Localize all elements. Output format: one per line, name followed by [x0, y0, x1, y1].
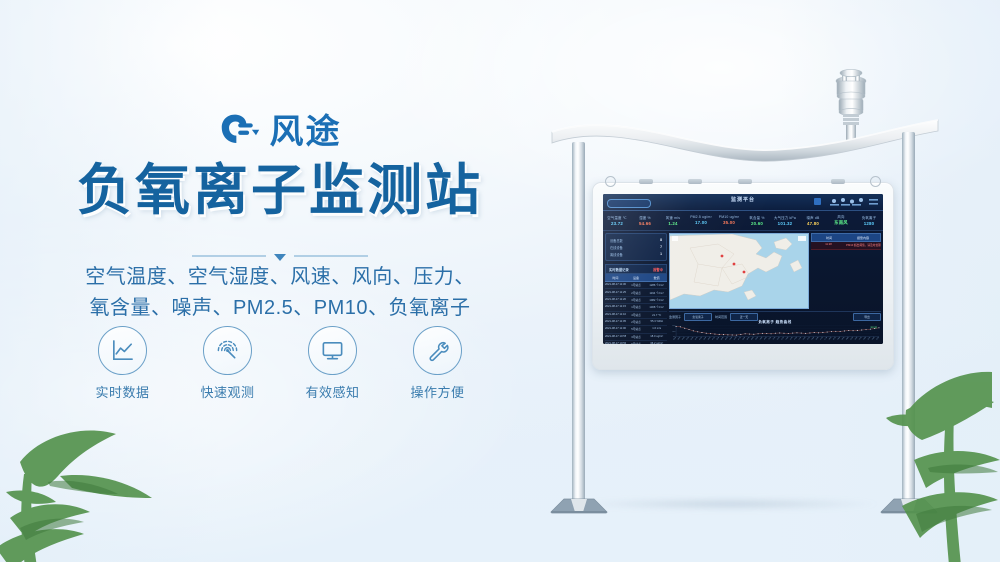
svg-text:19:00: 19:00 [837, 337, 841, 341]
svg-text:22:30: 22:30 [867, 337, 871, 341]
metric-item: 大气压力 kPa 101.32 [771, 210, 799, 230]
svg-text:1700: 1700 [672, 325, 676, 327]
table-cell: 1286 个/cm³ [646, 282, 667, 288]
table-row[interactable]: 2021-08-17 10:50:026号站点36.2 ug/m³ [605, 341, 667, 344]
table-cell: 1.6 m/s [646, 326, 667, 332]
feature-label: 操作方便 [410, 382, 464, 401]
metric-item: PM10 ug/m³ 35.00 [715, 210, 743, 230]
svg-text:11:00: 11:00 [768, 337, 772, 341]
stat-row: 在线设备 7 [610, 245, 662, 250]
svg-text:实时值: 实时值 [870, 325, 877, 329]
svg-text:19:30: 19:30 [841, 337, 845, 341]
table-cell: 55.3 %RH [646, 319, 667, 325]
mount-hook-left [605, 176, 616, 187]
svg-text:06:00: 06:00 [725, 337, 729, 341]
stat-value: 8 [660, 238, 662, 242]
header-widget-icons [812, 196, 880, 208]
wrench-icon [425, 338, 450, 363]
column-header: 数值 [646, 274, 667, 281]
radar-signal-icon [215, 338, 240, 363]
table-cell: 2021-08-17 10:50:02 [605, 341, 626, 344]
brand-name: 风途 [270, 115, 342, 149]
table-row[interactable]: 2021-08-17 11:25:022号站点1194 个/cm³ [605, 289, 667, 296]
metric-value: 17.00 [695, 220, 707, 225]
lcd-screen[interactable]: 监测平台 空气温度 ℃ 23.72 [603, 194, 883, 344]
svg-text:23:30: 23:30 [876, 337, 880, 341]
metric-item: PM2.5 ug/m³ 17.00 [687, 210, 715, 230]
column-header: 设备 [626, 274, 647, 281]
metric-name: 噪声 dB [807, 215, 820, 220]
table-cell: 2021-08-17 11:20:02 [605, 297, 626, 303]
device-stats: 设备总数 8 在线设备 7 离线设备 1 [605, 233, 667, 261]
svg-text:14:00: 14:00 [794, 337, 798, 341]
svg-text:01:00: 01:00 [682, 337, 686, 341]
trend-chart: 00:0000:3001:0001:3002:0002:3003:0003:30… [669, 324, 881, 342]
svg-text:04:30: 04:30 [712, 337, 716, 341]
svg-text:15:30: 15:30 [807, 337, 811, 341]
table-cell: 2021-08-17 11:15:02 [605, 304, 626, 310]
sensor-list-line-2: 氧含量、噪声、PM2.5、PM10、负氧离子 [0, 293, 560, 324]
svg-text:18:30: 18:30 [833, 337, 837, 341]
metric-item: 负氧离子 1280 [855, 210, 883, 230]
decorative-leaves-right [866, 356, 1000, 562]
svg-text:10:30: 10:30 [764, 337, 768, 341]
brand-logo: 风途 [0, 112, 560, 152]
alert-time: 11:28 [811, 242, 846, 249]
table-cell: 1308 个/cm³ [646, 304, 667, 310]
metric-item: 噪声 dB 47.80 [799, 210, 827, 230]
page-title: 负氧离子监测站 [0, 160, 560, 222]
wind-cloud-logo-icon [219, 112, 261, 152]
column-header: 时间 [605, 274, 626, 281]
metric-item: 风向 东南风 [827, 210, 855, 230]
decorative-leaves-left [0, 342, 196, 562]
table-cell: 1194 个/cm³ [646, 289, 667, 295]
left-panel: 设备总数 8 在线设备 7 离线设备 1 [605, 233, 667, 341]
feature-item-effective-sensing[interactable]: 有效感知 [299, 326, 367, 401]
alert-row: 11:28 PM10 超出阈值，请及时处理 [811, 242, 881, 250]
svg-text:21:30: 21:30 [859, 337, 863, 341]
svg-text:05:30: 05:30 [721, 337, 725, 341]
alert-panel: 时间 报警内容 11:28 PM10 超出阈值，请及时处理 [811, 233, 881, 307]
trend-chart-svg: 00:0000:3001:0001:3002:0002:3003:0003:30… [669, 324, 881, 342]
table-row[interactable]: 2021-08-17 11:05:022号站点55.3 %RH [605, 319, 667, 326]
metric-name: 空气温度 ℃ [607, 215, 627, 220]
svg-text:01:30: 01:30 [686, 337, 690, 341]
monitor-icon [320, 338, 345, 363]
svg-text:15:00: 15:00 [803, 337, 807, 341]
feature-label: 快速观测 [200, 382, 254, 401]
table-cell: 2021-08-17 11:05:02 [605, 319, 626, 325]
metric-value: 1280 [864, 221, 875, 226]
alert-column-headers: 时间 报警内容 [811, 233, 881, 242]
metric-strip: 空气温度 ℃ 23.72 湿度 % 54.66 风速 m/s 1.24 PM [603, 210, 883, 231]
svg-text:1250: 1250 [672, 331, 676, 333]
metric-value: 35.00 [723, 220, 735, 225]
mount-hook-right [870, 176, 881, 187]
svg-text:07:00: 07:00 [733, 337, 737, 341]
feature-item-easy-operation[interactable]: 操作方便 [404, 326, 472, 401]
svg-text:800: 800 [673, 336, 676, 338]
svg-text:20:30: 20:30 [850, 337, 854, 341]
metric-value: 1.24 [668, 221, 677, 226]
station-map[interactable] [669, 233, 809, 309]
table-cell: 2号站点 [626, 319, 647, 325]
mount-tab [639, 179, 653, 184]
svg-text:13:30: 13:30 [790, 337, 794, 341]
table-cell: 36.2 ug/m³ [646, 341, 667, 344]
svg-text:11:30: 11:30 [772, 337, 776, 341]
table-row[interactable]: 2021-08-17 10:55:023号站点18.0 ug/m³ [605, 334, 667, 341]
svg-text:21:00: 21:00 [854, 337, 858, 341]
chart-filter-label-factor: 监测因子 [669, 315, 681, 319]
metric-name: 氧含量 % [749, 215, 764, 220]
table-cell: 1号站点 [626, 282, 647, 288]
table-cell: 2021-08-17 11:00:02 [605, 326, 626, 332]
svg-text:23:00: 23:00 [872, 337, 876, 341]
svg-text:12:00: 12:00 [777, 337, 781, 341]
feature-item-fast-observation[interactable]: 快速观测 [194, 326, 262, 401]
feature-label: 有效感知 [305, 382, 359, 401]
svg-text:09:30: 09:30 [755, 337, 759, 341]
svg-text:08:30: 08:30 [746, 337, 750, 341]
svg-text:17:00: 17:00 [820, 337, 824, 341]
column-header: 报警内容 [846, 234, 880, 241]
svg-text:06:30: 06:30 [729, 337, 733, 341]
stat-row: 设备总数 8 [610, 238, 662, 243]
table-column-headers: 时间 设备 数值 [605, 274, 667, 282]
stat-key: 设备总数 [610, 238, 623, 243]
divider-ornament [190, 252, 370, 262]
table-row[interactable]: 2021-08-17 11:20:023号站点1082 个/cm³ [605, 297, 667, 304]
metric-value: 23.72 [611, 221, 623, 226]
table-cell: 1082 个/cm³ [646, 297, 667, 303]
svg-text:14:30: 14:30 [798, 337, 802, 341]
svg-text:12:30: 12:30 [781, 337, 785, 341]
svg-text:04:00: 04:00 [708, 337, 712, 341]
feature-icon-wrap [203, 326, 252, 375]
metric-name: 负氧离子 [862, 215, 876, 220]
svg-text:03:30: 03:30 [703, 337, 707, 341]
table-cell: 6号站点 [626, 341, 647, 344]
svg-text:16:00: 16:00 [811, 337, 815, 341]
table-title: 实时数据记录 [609, 267, 629, 272]
data-table-header: 实时数据记录 报警中 [605, 264, 667, 274]
sensor-list: 空气温度、空气湿度、风速、风向、压力、 氧含量、噪声、PM2.5、PM10、负氧… [0, 262, 560, 324]
stat-key: 在线设备 [610, 245, 623, 250]
mount-tab [738, 179, 752, 184]
table-cell: 2号站点 [626, 289, 647, 295]
table-row[interactable]: 2021-08-17 11:30:021号站点1286 个/cm³ [605, 282, 667, 289]
svg-text:03:00: 03:00 [699, 337, 703, 341]
table-cell: 18.0 ug/m³ [646, 334, 667, 340]
chart-filter-label-range: 时间范围 [715, 315, 727, 319]
metric-item: 氧含量 % 20.60 [743, 210, 771, 230]
table-row[interactable]: 2021-08-17 11:15:021号站点1308 个/cm³ [605, 304, 667, 311]
stat-row: 离线设备 1 [610, 252, 662, 257]
svg-text:16:30: 16:30 [815, 337, 819, 341]
feature-icon-wrap [308, 326, 357, 375]
column-header: 时间 [812, 234, 846, 241]
wave-canopy [550, 114, 940, 170]
status-badge: 报警中 [653, 267, 663, 272]
svg-text:09:00: 09:00 [751, 337, 755, 341]
table-cell: 2021-08-17 11:30:02 [605, 282, 626, 288]
metric-name: 大气压力 kPa [774, 215, 796, 220]
stat-value: 7 [660, 245, 662, 249]
support-post-left [572, 142, 585, 504]
table-cell: 3号站点 [626, 334, 647, 340]
table-cell: 3号站点 [626, 297, 647, 303]
svg-text:00:30: 00:30 [677, 337, 681, 341]
table-cell: 21.7 ℃ [646, 312, 667, 318]
svg-text:05:00: 05:00 [716, 337, 720, 341]
metric-item: 湿度 % 54.66 [631, 210, 659, 230]
metric-name: 湿度 % [639, 215, 651, 220]
metric-value: 101.32 [778, 221, 793, 226]
table-row[interactable]: 2021-08-17 11:00:025号站点1.6 m/s [605, 326, 667, 333]
svg-text:02:30: 02:30 [695, 337, 699, 341]
metric-name: 风向 [837, 214, 844, 219]
feature-icon-wrap [413, 326, 462, 375]
sensor-list-line-1: 空气温度、空气湿度、风速、风向、压力、 [0, 262, 560, 293]
promo-banner: 风途 负氧离子监测站 空气温度、空气湿度、风速、风向、压力、 氧含量、噪声、PM… [0, 0, 1000, 562]
metric-name: 风速 m/s [666, 215, 680, 220]
base-plate-left [549, 496, 609, 514]
data-table-body: 2021-08-17 11:30:021号站点1286 个/cm³2021-08… [605, 282, 667, 344]
metric-value: 东南风 [834, 220, 848, 226]
svg-text:17:30: 17:30 [824, 337, 828, 341]
dashboard: 监测平台 空气温度 ℃ 23.72 [603, 194, 883, 344]
metric-value: 47.80 [807, 221, 819, 226]
svg-text:18:00: 18:00 [828, 337, 832, 341]
table-row[interactable]: 2021-08-17 11:10:024号站点21.7 ℃ [605, 312, 667, 319]
metric-item: 空气温度 ℃ 23.72 [603, 210, 631, 230]
svg-text:02:00: 02:00 [690, 337, 694, 341]
table-cell: 2021-08-17 11:25:02 [605, 289, 626, 295]
display-enclosure: 监测平台 空气温度 ℃ 23.72 [592, 182, 894, 370]
map-graphic [670, 234, 808, 308]
alert-text: PM10 超出阈值，请及时处理 [846, 242, 881, 249]
table-cell: 5号站点 [626, 326, 647, 332]
stat-key: 离线设备 [610, 252, 623, 257]
svg-text:08:00: 08:00 [742, 337, 746, 341]
svg-text:22:00: 22:00 [863, 337, 867, 341]
svg-text:10:00: 10:00 [759, 337, 763, 341]
table-cell: 4号站点 [626, 312, 647, 318]
svg-text:20:00: 20:00 [846, 337, 850, 341]
stat-value: 1 [660, 252, 662, 256]
mount-tab [831, 179, 845, 184]
table-cell: 2021-08-17 11:10:02 [605, 312, 626, 318]
metric-name: PM10 ug/m³ [719, 215, 739, 219]
metric-item: 风速 m/s 1.24 [659, 210, 687, 230]
mount-tab [688, 179, 702, 184]
table-cell: 2021-08-17 10:55:02 [605, 334, 626, 340]
svg-text:07:30: 07:30 [738, 337, 742, 341]
metric-value: 20.60 [751, 221, 763, 226]
table-cell: 1号站点 [626, 304, 647, 310]
metric-value: 54.66 [639, 221, 651, 226]
metric-name: PM2.5 ug/m³ [690, 215, 712, 219]
svg-text:13:00: 13:00 [785, 337, 789, 341]
